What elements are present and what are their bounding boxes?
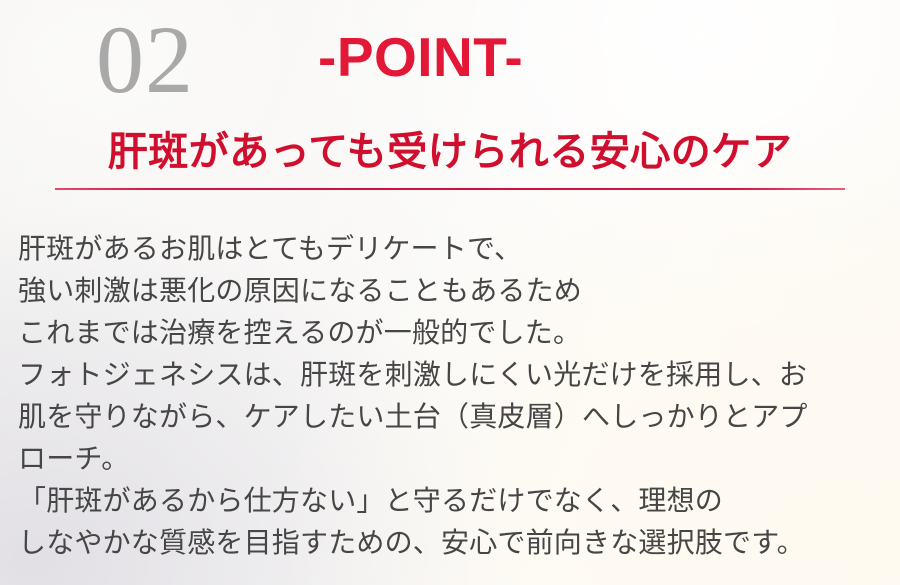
header-row: 02 -POINT-	[0, 8, 900, 113]
section-heading: 肝斑があっても受けられる安心のケア	[0, 126, 900, 178]
body-line: これまでは治療を控えるのが一般的でした。	[18, 312, 890, 354]
body-line: 「肝斑があるから仕方ない」と守るだけでなく、理想の	[18, 480, 890, 522]
body-line: 肝斑があるお肌はとてもデリケートで、	[18, 228, 890, 270]
body-line: 強い刺激は悪化の原因になることもあるため	[18, 270, 890, 312]
section-number: 02	[96, 10, 194, 110]
body-line: ローチ。	[18, 438, 890, 480]
body-line: しなやかな質感を目指すための、安心で前向きな選択肢です。	[18, 522, 890, 564]
body-copy: 肝斑があるお肌はとてもデリケートで、 強い刺激は悪化の原因になることもあるため …	[18, 228, 890, 564]
body-line: フォトジェネシスは、肝斑を刺激しにくい光だけを採用し、お	[18, 354, 890, 396]
body-line: 肌を守りながら、ケアしたい土台（真皮層）へしっかりとアプ	[18, 396, 890, 438]
point-label: -POINT-	[318, 24, 523, 90]
promo-slide: 02 -POINT- 肝斑があっても受けられる安心のケア 肝斑があるお肌はとても…	[0, 0, 900, 585]
heading-divider	[55, 188, 845, 190]
